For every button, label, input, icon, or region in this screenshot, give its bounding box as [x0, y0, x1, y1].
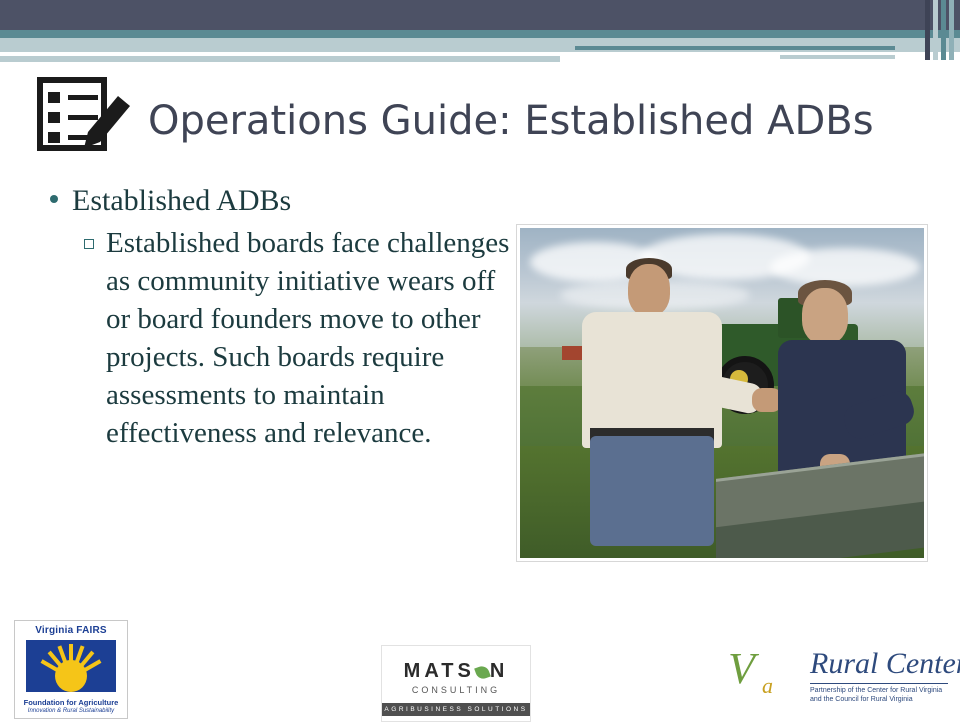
virginia-fairs-tagline-bold: Foundation for Agriculture [15, 698, 127, 707]
banner-teal-band [0, 30, 960, 38]
matson-consulting-logo: MATSN CONSULTING AGRIBUSINESS SOLUTIONS [381, 645, 531, 722]
bullet-level2-text: Established boards face challenges as co… [106, 227, 509, 449]
rural-center-mark-v: V [728, 647, 755, 691]
rural-center-divider [810, 683, 948, 684]
banner-vertical-stripe-1 [925, 0, 930, 60]
matson-tagline-bar: AGRIBUSINESS SOLUTIONS [382, 703, 530, 716]
virginia-fairs-tagline-italic: Innovation & Rural Sustainability [15, 707, 127, 716]
bullet-square-icon [84, 239, 94, 249]
bullet-level1: Established ADBs [40, 182, 510, 220]
matson-word-part1: MATS [404, 660, 475, 682]
photo-person-left-jeans [590, 436, 714, 546]
virginia-fairs-logo-title: Virginia FAIRS [15, 621, 127, 636]
slide-header-banner [0, 0, 960, 76]
rural-center-title: Rural Center [810, 647, 960, 681]
leaf-icon [474, 664, 491, 681]
photo-cloud [770, 248, 920, 286]
bullet-dot-icon [50, 195, 58, 203]
banner-dark-band [0, 0, 960, 30]
rural-center-mark-a: a [762, 673, 773, 699]
matson-wordmark: MATSN [382, 660, 530, 683]
virginia-fairs-logo-tagline: Foundation for Agriculture Innovation & … [15, 698, 127, 716]
virginia-rural-center-logo: V a Rural Center Partnership of the Cent… [728, 645, 950, 707]
matson-word-part2: N [490, 660, 508, 682]
banner-vertical-stripe-4 [949, 0, 954, 60]
matson-subtitle: CONSULTING [382, 685, 530, 695]
sunrise-icon [26, 640, 116, 692]
virginia-fairs-logo: Virginia FAIRS Foundation for Agricultur… [14, 620, 128, 719]
photo-person-right-head [802, 288, 848, 344]
bullet-level1-text: Established ADBs [72, 184, 291, 217]
bullet-level2: Established boards face challenges as co… [40, 224, 510, 452]
page-title: Operations Guide: Established ADBs [148, 96, 938, 146]
slide-body: Established ADBs Established boards face… [40, 182, 510, 452]
banner-accent-line-pale [780, 55, 895, 59]
banner-vertical-stripe-2 [933, 0, 938, 60]
banner-vertical-stripe-3 [941, 0, 946, 60]
rural-center-subtitle: Partnership of the Center for Rural Virg… [810, 686, 950, 704]
photo-person-left-head [628, 264, 670, 316]
checklist-clipboard-icon [26, 62, 134, 162]
two-farmers-by-equipment-photo [517, 225, 927, 561]
banner-accent-line-teal [575, 46, 895, 50]
